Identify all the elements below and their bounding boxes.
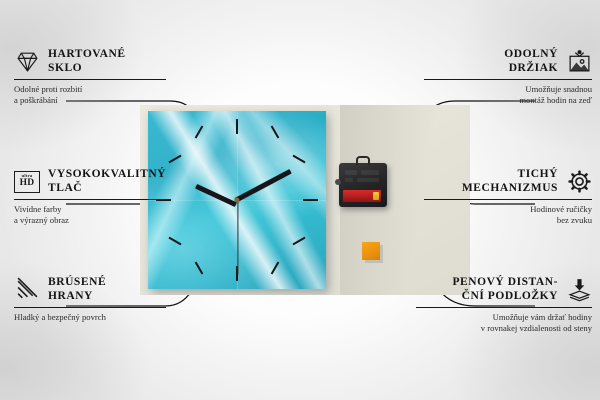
feature-high-quality-print: ultra HD VYSOKOKVALITNÝ TLAČ Vivídne far… [14, 168, 166, 225]
feature-durable-holder: ODOLNÝ DRŽIAK Umožňuje snadnou montáž ho… [424, 48, 592, 105]
feature-description: Umožňuje vám držať hodiny v rovnakej vzd… [416, 312, 592, 333]
feature-description: Hladký a bezpečný povrch [14, 312, 166, 323]
feature-silent-mechanism: TICHÝ MECHANIZMUS Hodinové ručičky bez z… [424, 168, 592, 225]
battery-terminal [373, 192, 379, 200]
hd-badge-hd: HD [20, 179, 35, 189]
glass-clock [148, 111, 326, 289]
feature-description: Vivídne farby a výrazný obraz [14, 204, 166, 225]
hour-hand [195, 184, 237, 207]
feature-foam-spacers: PENOVÝ DISTAN- ČNÍ PODLOŽKY Umožňuje vám… [416, 276, 592, 333]
divider [424, 199, 592, 200]
feature-description: Hodinové ručičky bez zvuku [424, 204, 592, 225]
diamond-icon [14, 49, 40, 75]
second-hand [237, 201, 238, 275]
feature-polished-edges: BRÚSENÉ HRANY Hladký a bezpečný povrch [14, 276, 166, 323]
clock-hands [148, 111, 326, 289]
gear-icon [566, 169, 592, 195]
minute-hand [235, 169, 292, 203]
movement-shaft [335, 179, 341, 185]
movement-hanger [356, 156, 370, 165]
feature-title: TICHÝ MECHANIZMUS [462, 168, 558, 195]
movement-battery [343, 190, 381, 202]
divider [14, 307, 166, 308]
feature-title: PENOVÝ DISTAN- ČNÍ PODLOŽKY [452, 276, 558, 303]
feature-title: HARTOVANÉ SKLO [48, 48, 126, 75]
divider [424, 79, 592, 80]
feature-title: BRÚSENÉ HRANY [48, 276, 106, 303]
divider [14, 79, 166, 80]
feature-description: Odolné proti rozbití a poškrábání [14, 84, 166, 105]
feature-tempered-glass: HARTOVANÉ SKLO Odolné proti rozbití a po… [14, 48, 166, 105]
foam-spacer-pad [362, 242, 380, 260]
product-infographic: HARTOVANÉ SKLO Odolné proti rozbití a po… [0, 0, 600, 400]
diagonal-lines-icon [14, 277, 40, 303]
clock-movement [339, 163, 387, 207]
product-photo [140, 105, 470, 295]
feature-title: VYSOKOKVALITNÝ TLAČ [48, 168, 166, 195]
stacked-layers-arrow-icon [566, 277, 592, 303]
divider [14, 199, 166, 200]
clock-hub [235, 198, 240, 203]
divider [416, 307, 592, 308]
picture-frame-hanger-icon [566, 49, 592, 75]
feature-title: ODOLNÝ DRŽIAK [504, 48, 558, 75]
feature-description: Umožňuje snadnou montáž hodin na zeď [424, 84, 592, 105]
ultra-hd-badge-icon: ultra HD [14, 169, 40, 195]
